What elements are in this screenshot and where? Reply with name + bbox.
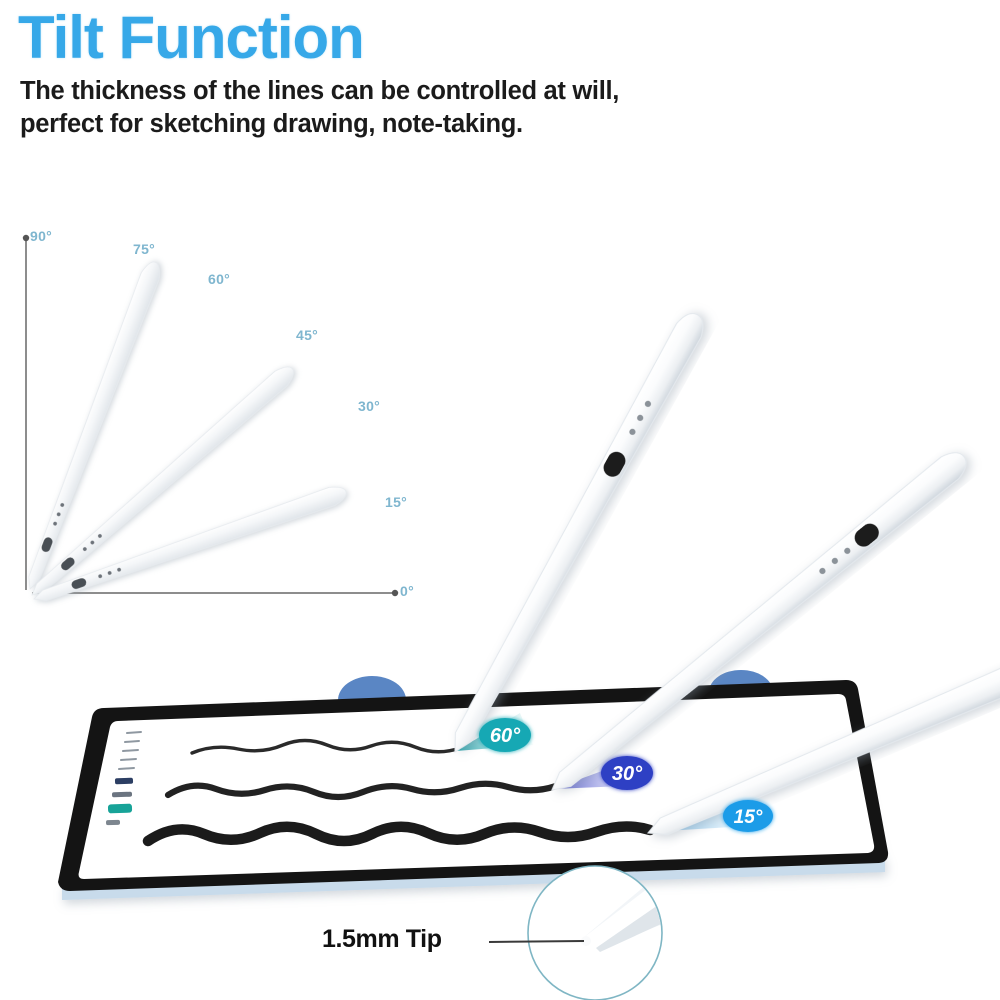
badge-30: 30° [601,756,653,790]
tip-callout-label: 1.5mm Tip [322,925,442,954]
subtitle-line-2: perfect for sketching drawing, note-taki… [20,108,978,141]
tablet-scene-svg: 60° 30° 15° [0,200,1000,1000]
subtitle-line-1: The thickness of the lines can be contro… [20,75,978,108]
infographic-root: Tilt Function The thickness of the lines… [0,0,1000,1000]
badge-15-label: 15° [734,807,763,828]
badge-15: 15° [723,800,773,832]
header: Tilt Function The thickness of the lines… [18,6,978,141]
badge-60: 60° [479,718,531,752]
subtitle: The thickness of the lines can be contro… [20,75,978,141]
badge-30-label: 30° [612,763,643,785]
toolbar-active-brush [108,804,132,814]
tip-leader-line [489,941,584,942]
page-title: Tilt Function [18,6,978,69]
badge-60-label: 60° [490,725,521,747]
tablet-scene: 60° 30° 15° [0,200,1000,1000]
